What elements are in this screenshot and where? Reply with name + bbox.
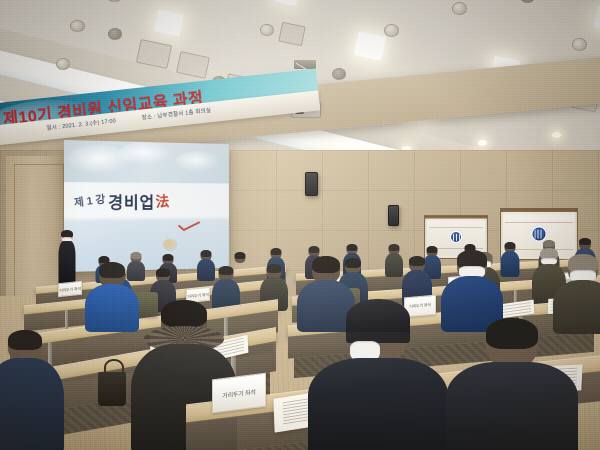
beanie-hat (346, 299, 411, 340)
attendee (502, 242, 518, 276)
wall-mounted-speaker (388, 205, 399, 226)
attendee (386, 244, 402, 276)
distancing-placard: 거리두기 좌석 (212, 373, 266, 414)
square-panel-light (594, 6, 600, 33)
ceiling-speaker-icon (108, 28, 122, 40)
standing-instructor (58, 230, 76, 286)
police-association-emblem-icon (450, 231, 463, 244)
sprinkler-head-icon (452, 2, 467, 15)
recessed-downlight (478, 140, 487, 146)
ceiling-speaker-icon (332, 68, 346, 80)
placard-text: 거리두기 좌석 (213, 386, 265, 401)
ceiling-speaker-icon (520, 0, 535, 3)
square-panel-light (154, 10, 184, 37)
attendee (88, 262, 136, 328)
sprinkler-head-icon (70, 20, 85, 32)
placard-text: 거리두기 좌석 (59, 286, 81, 294)
attendee (444, 250, 500, 328)
lecture-hall-photo: 제10기 경비원 신임교육 과정 일시 : 2021. 2. 3.(수) 17:… (0, 0, 600, 450)
air-vent (278, 22, 306, 47)
wall-mounted-speaker (305, 172, 318, 196)
attendee (198, 250, 214, 280)
handbag (98, 372, 126, 406)
sprinkler-head-icon (384, 24, 399, 37)
banner-date: 일시 : 2021. 2. 3.(수) 17:00 (46, 118, 116, 131)
attendee (0, 330, 60, 450)
attendee (314, 300, 442, 450)
banner-place: 장소 : 남부경찰서 1층 회의실 (141, 108, 211, 121)
sprinkler-head-icon (572, 38, 587, 51)
sprinkler-head-icon (260, 24, 274, 36)
ceiling-speaker-icon (106, 0, 123, 2)
square-panel-light (274, 0, 299, 6)
sprinkler-head-icon (56, 58, 70, 70)
distancing-placard: 거리두기 좌석 (58, 281, 82, 298)
recessed-downlight (552, 132, 561, 138)
square-panel-light (354, 31, 386, 60)
attendee (452, 318, 572, 450)
